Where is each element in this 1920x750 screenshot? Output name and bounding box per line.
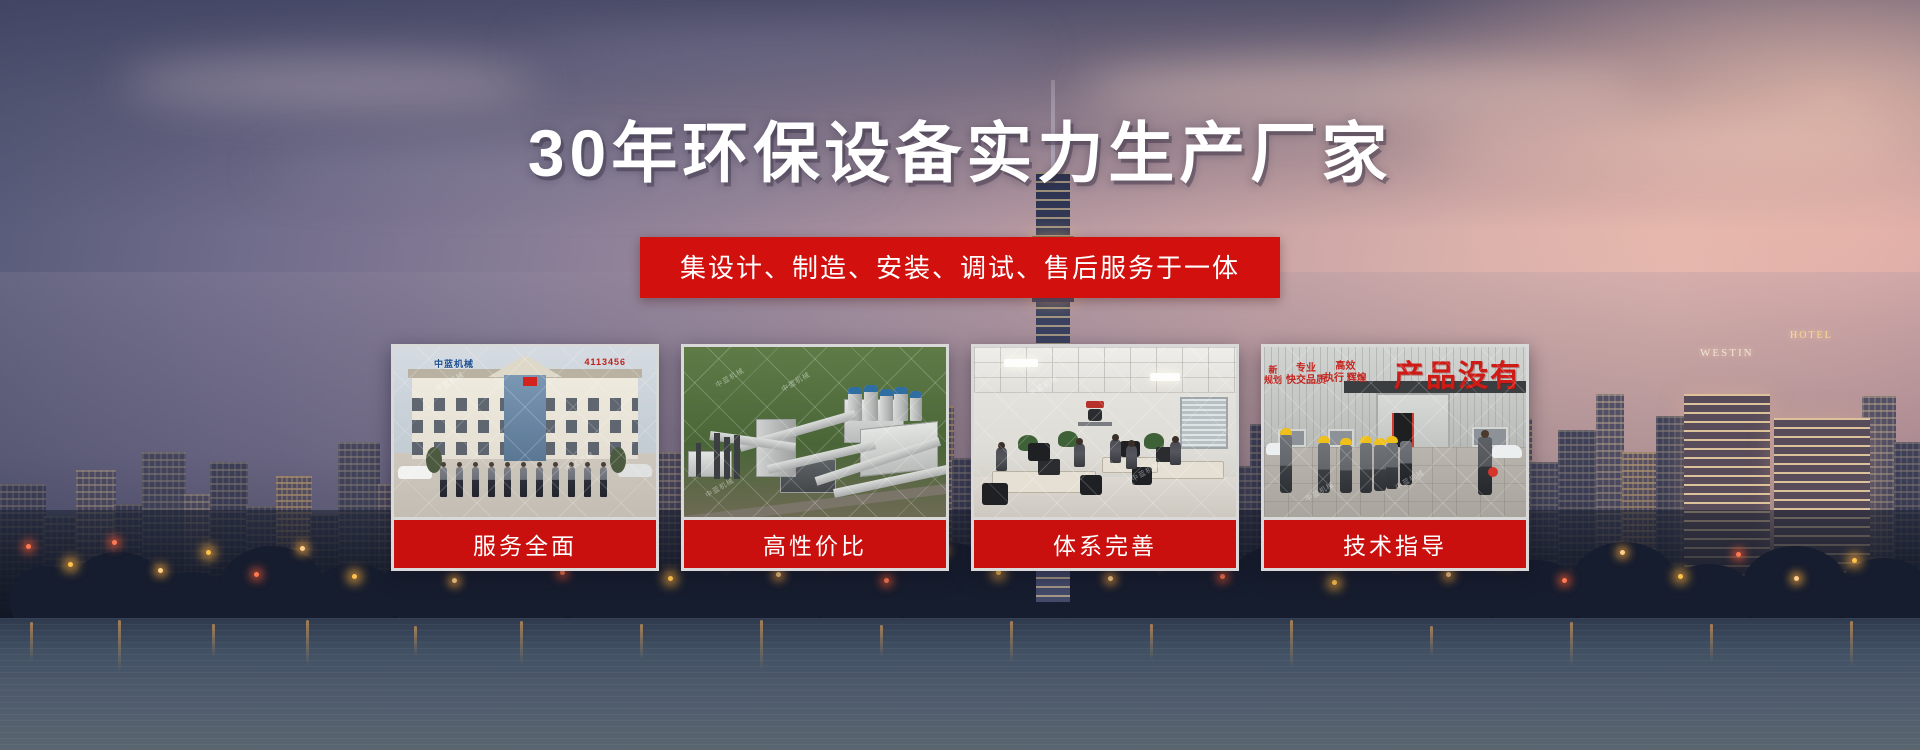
factory-signage: 产品没有 <box>1394 351 1522 395</box>
card-label: 体系完善 <box>974 520 1236 568</box>
card-photo-plant-aerial: 中蓝机械 中蓝机械 中蓝机械 <box>684 347 946 517</box>
feature-card[interactable]: 中蓝机械 中蓝机械 体系完善 <box>971 344 1239 571</box>
card-photo-headquarters: 中蓝机械 4113456 <box>394 347 656 517</box>
feature-card[interactable]: 中蓝机械 4113456 <box>391 344 659 571</box>
card-label: 服务全面 <box>394 520 656 568</box>
building-phone: 4113456 <box>584 357 626 367</box>
card-label: 技术指导 <box>1264 520 1526 568</box>
card-label: 高性价比 <box>684 520 946 568</box>
subtitle-banner: 集设计、制造、安装、调试、售后服务于一体 <box>640 237 1280 298</box>
feature-card-row: 中蓝机械 4113456 <box>391 344 1529 571</box>
feature-card[interactable]: 中蓝机械 中蓝机械 中蓝机械 高性价比 <box>681 344 949 571</box>
feature-card[interactable]: 产品没有 专业快交品质 高效执行 辉煌 新规划 <box>1261 344 1529 571</box>
building-signage: 中蓝机械 <box>434 357 474 370</box>
card-photo-factory-workers: 产品没有 专业快交品质 高效执行 辉煌 新规划 <box>1264 347 1526 517</box>
card-photo-office-interior: 中蓝机械 中蓝机械 <box>974 347 1236 517</box>
hero-banner: WESTIN HOTEL <box>0 0 1920 750</box>
page-title: 30年环保设备实力生产厂家 <box>0 120 1920 186</box>
